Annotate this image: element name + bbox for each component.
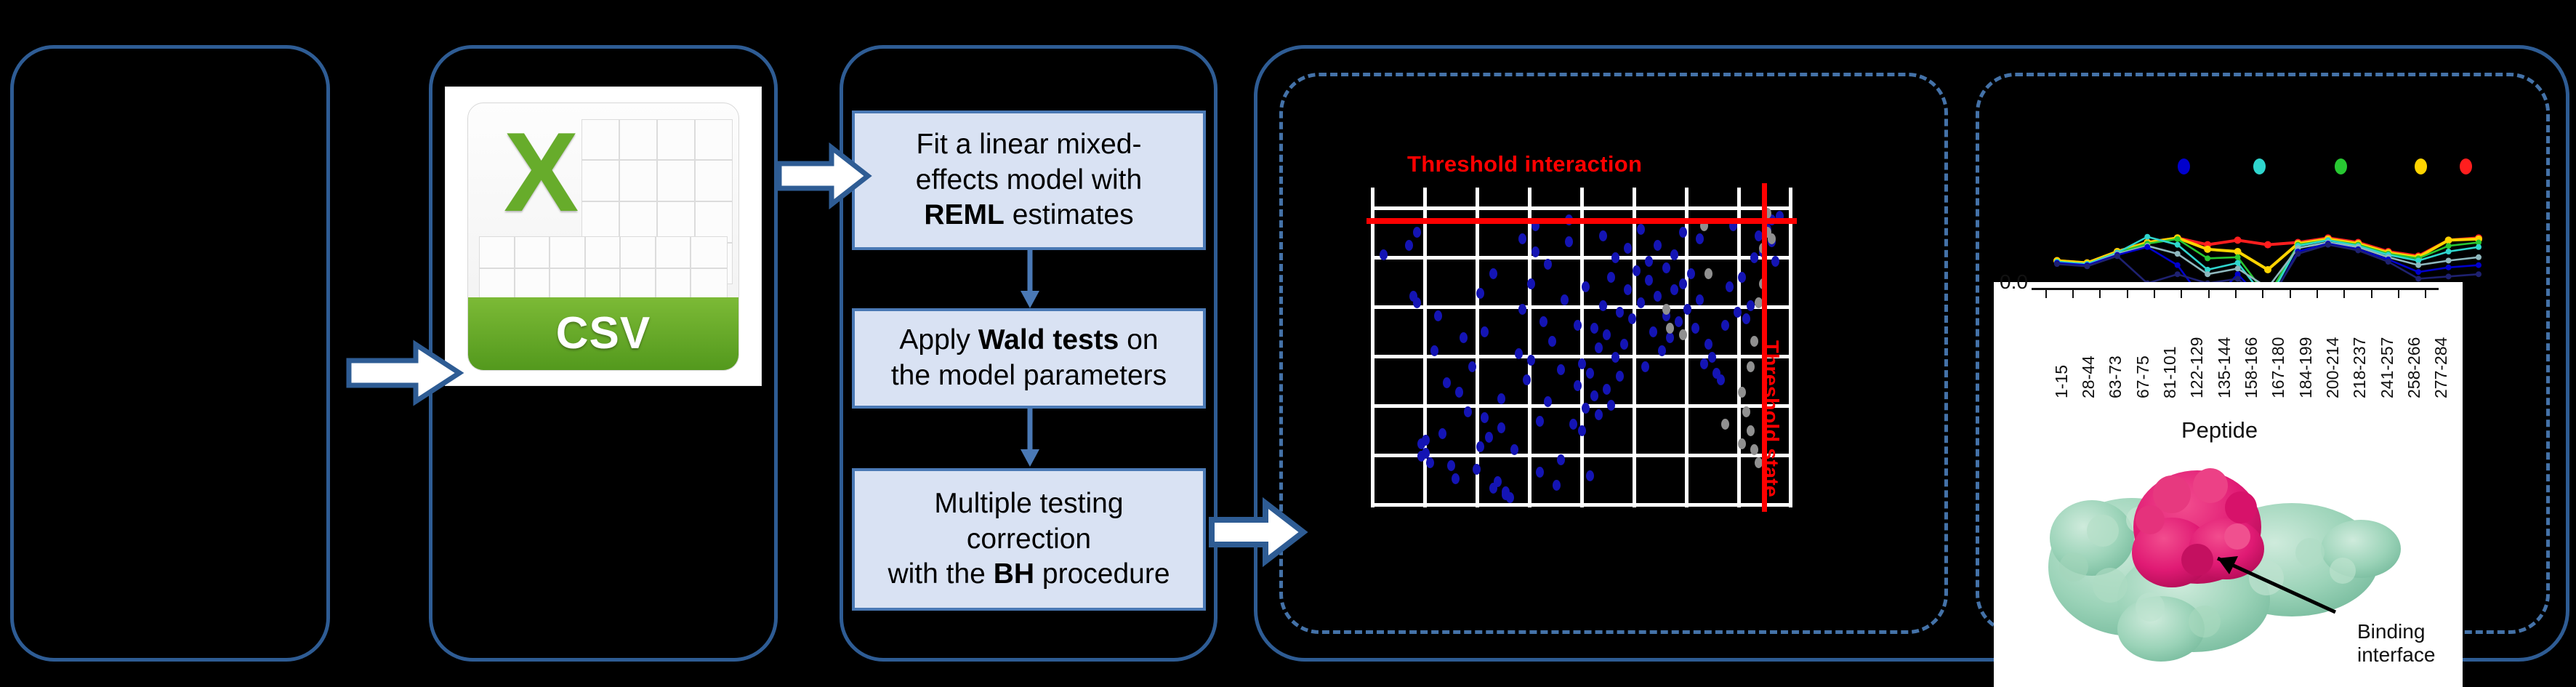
volcano-data-point (1726, 281, 1734, 292)
line-marker (2446, 243, 2452, 249)
line-marker (2446, 265, 2452, 270)
bh-line-3: with the BH procedure (887, 557, 1170, 592)
volcano-data-point (1738, 387, 1746, 398)
volcano-data-point (1481, 326, 1489, 337)
volcano-data-point (1476, 288, 1484, 299)
volcano-data-point (1531, 246, 1539, 257)
peptide-axis-title: Peptide (2181, 417, 2258, 443)
volcano-data-point (1569, 419, 1577, 430)
volcano-data-point (1506, 492, 1514, 503)
volcano-data-point (1717, 374, 1725, 385)
volcano-data-point (1750, 252, 1758, 263)
volcano-data-point (1527, 278, 1535, 289)
volcano-data-point (1536, 416, 1544, 427)
line-marker (2476, 271, 2482, 277)
volcano-data-point (1747, 425, 1755, 436)
arrow-input-to-csv (346, 340, 462, 406)
volcano-data-point (1721, 419, 1729, 430)
volcano-data-point (1616, 307, 1624, 318)
volcano-data-point (1750, 444, 1758, 455)
volcano-data-point (1658, 345, 1666, 356)
peptide-tick-label: 277-284 (2431, 337, 2451, 398)
volcano-data-point (1548, 336, 1556, 347)
peptide-tick-label: 63-73 (2106, 355, 2125, 398)
protein-structure-figure (2023, 451, 2401, 669)
volcano-data-point (1607, 272, 1615, 283)
volcano-data-point (1527, 355, 1535, 366)
volcano-data-point (1553, 480, 1561, 491)
line-marker (2476, 262, 2482, 268)
volcano-data-point (1586, 368, 1594, 379)
volcano-data-point (1704, 339, 1712, 350)
arrow-model-to-results (1209, 499, 1307, 566)
volcano-data-point (1595, 409, 1603, 420)
volcano-data-point (1670, 249, 1678, 260)
volcano-data-point (1620, 339, 1628, 350)
process-step-fit-model-text: Fit a linear mixed- effects model with R… (916, 127, 1142, 233)
peptide-tick-label: 258-266 (2404, 337, 2424, 398)
bh-line-1: Multiple testing (887, 486, 1170, 522)
volcano-data-point (1624, 284, 1632, 295)
line-marker (2175, 242, 2181, 248)
workflow-diagram: X (0, 0, 2576, 687)
volcano-data-point (1670, 284, 1678, 295)
volcano-data-point (1679, 227, 1687, 238)
binding-interface-line-1: Binding (2357, 620, 2435, 643)
volcano-data-point (1768, 233, 1776, 244)
volcano-data-point (1645, 256, 1653, 267)
legend-dot-series-2 (2253, 158, 2266, 174)
line-marker (2175, 271, 2181, 277)
volcano-data-point (1742, 406, 1750, 417)
connector-wald-to-bh (1015, 409, 1045, 470)
volcano-data-point (1742, 313, 1750, 324)
volcano-data-point (1599, 300, 1607, 311)
line-marker (2445, 236, 2452, 244)
volcano-data-point (1734, 307, 1742, 318)
line-marker (2144, 234, 2150, 240)
volcano-data-point (1738, 272, 1746, 283)
line-marker (2415, 269, 2421, 275)
process-step-bh-correction-text: Multiple testing correction with the BH … (887, 486, 1170, 592)
line-marker (2415, 276, 2421, 281)
legend-dot-series-5 (2460, 158, 2472, 174)
volcano-data-point (1637, 224, 1645, 235)
volcano-data-point (1721, 320, 1729, 331)
volcano-data-point (1481, 412, 1489, 423)
volcano-data-point (1438, 428, 1446, 439)
volcano-data-point (1649, 326, 1657, 337)
volcano-data-point (1700, 358, 1708, 369)
legend-dot-series-3 (2335, 158, 2347, 174)
wald-line-1: Apply Wald tests on (891, 323, 1167, 358)
volcano-data-point (1539, 316, 1547, 327)
line-marker (2476, 254, 2482, 260)
volcano-data-point (1696, 294, 1704, 305)
volcano-data-point (1747, 300, 1755, 311)
threshold-interaction-line (1367, 218, 1797, 224)
line-marker (2446, 257, 2452, 263)
line-marker (2235, 260, 2241, 266)
peptide-tick-label: 28-44 (2079, 355, 2098, 398)
volcano-data-point (1616, 371, 1624, 382)
volcano-data-point (1518, 304, 1526, 315)
volcano-data-point (1518, 233, 1526, 244)
volcano-data-point (1611, 352, 1619, 363)
input-panel (10, 45, 330, 662)
line-marker (2446, 249, 2452, 254)
volcano-data-point (1574, 320, 1582, 331)
volcano-data-point (1738, 438, 1746, 449)
line-marker (2204, 246, 2211, 253)
volcano-data-point (1473, 464, 1481, 475)
volcano-data-point (1557, 454, 1565, 465)
volcano-data-point (1434, 310, 1442, 321)
volcano-data-point (1662, 262, 1670, 273)
volcano-plot: Threshold interaction (1301, 153, 1926, 531)
volcano-data-point (1380, 249, 1388, 260)
volcano-data-point (1468, 361, 1476, 372)
volcano-data-point (1704, 268, 1712, 279)
process-step-wald-tests-text: Apply Wald tests on the model parameters (891, 323, 1167, 394)
peptide-tick-label: 81-101 (2160, 346, 2180, 398)
peptide-tick-label: 158-166 (2242, 337, 2261, 398)
volcano-data-point (1582, 281, 1590, 292)
volcano-data-point (1497, 422, 1505, 433)
fit-model-line-1: Fit a linear mixed- (916, 127, 1142, 163)
volcano-data-point (1747, 361, 1755, 372)
volcano-data-point (1624, 243, 1632, 254)
volcano-data-point (1599, 230, 1607, 241)
volcano-data-point (1595, 342, 1603, 353)
volcano-data-point (1405, 240, 1413, 251)
volcano-data-point (1603, 384, 1611, 395)
line-marker (2205, 255, 2210, 261)
volcano-threshold-state-label: Threshold state (1758, 340, 1782, 497)
volcano-data-point (1565, 236, 1573, 247)
volcano-data-point (1654, 291, 1662, 302)
volcano-point-cloud (1371, 188, 1792, 507)
connector-fit-to-wald (1015, 250, 1045, 311)
line-marker (2175, 236, 2181, 242)
volcano-data-point (1628, 313, 1636, 324)
volcano-data-point (1544, 396, 1552, 407)
volcano-data-point (1443, 377, 1451, 388)
volcano-data-point (1666, 323, 1674, 334)
line-marker (2234, 236, 2242, 244)
volcano-data-point (1687, 268, 1695, 279)
process-step-fit-model: Fit a linear mixed- effects model with R… (852, 111, 1206, 250)
volcano-data-point (1637, 297, 1645, 308)
line-marker (2325, 242, 2331, 248)
volcano-data-point (1476, 441, 1484, 452)
csv-grid-bottom (479, 236, 728, 300)
line-marker (2264, 266, 2271, 273)
line-marker (2235, 276, 2241, 281)
volcano-data-point (1696, 233, 1704, 244)
volcano-data-point (1489, 268, 1497, 279)
line-marker (2175, 251, 2181, 257)
line-marker (2295, 251, 2301, 257)
volcano-data-point (1590, 323, 1598, 334)
volcano-data-point (1494, 476, 1502, 487)
volcano-data-point (1536, 467, 1544, 478)
volcano-data-point (1590, 390, 1598, 401)
line-marker (2175, 262, 2181, 268)
volcano-data-point (1464, 406, 1472, 417)
volcano-data-point (1633, 265, 1641, 276)
volcano-data-point (1422, 435, 1430, 446)
volcano-data-point (1497, 393, 1505, 404)
legend-dot-series-4 (2415, 158, 2427, 174)
results-figure-card: 0.0 1-1528-4463-7367-7581-101122-129135-… (1994, 282, 2463, 687)
volcano-data-point (1662, 304, 1670, 315)
peptide-tick-label: 200-214 (2323, 337, 2343, 398)
fit-model-line-3: REML estimates (916, 198, 1142, 233)
volcano-data-point (1679, 278, 1687, 289)
volcano-data-point (1544, 259, 1552, 270)
peptide-tick-label: 241-257 (2378, 337, 2397, 398)
peptide-tick-label: 67-75 (2133, 355, 2153, 398)
line-marker (2264, 241, 2271, 249)
volcano-data-point (1708, 352, 1716, 363)
volcano-data-point (1413, 297, 1421, 308)
line-marker (2235, 265, 2241, 271)
bh-line-2: correction (887, 522, 1170, 558)
volcano-data-point (1679, 329, 1687, 340)
fit-model-line-2: effects model with (916, 163, 1142, 198)
volcano-data-point (1455, 387, 1463, 398)
volcano-data-point (1426, 457, 1434, 468)
line-marker (2355, 247, 2361, 253)
volcano-data-point (1485, 432, 1493, 443)
volcano-data-point (1515, 348, 1523, 359)
volcano-data-point (1641, 361, 1649, 372)
peptide-tick-label: 218-237 (2350, 337, 2370, 398)
volcano-data-point (1645, 275, 1653, 286)
volcano-data-point (1750, 336, 1758, 347)
volcano-plot-area (1371, 188, 1792, 507)
line-marker (2386, 259, 2391, 265)
volcano-data-point (1611, 252, 1619, 263)
volcano-threshold-interaction-label: Threshold interaction (1407, 151, 1642, 177)
line-marker (2144, 244, 2150, 250)
csv-format-label: CSV (468, 297, 738, 369)
volcano-data-point (1675, 316, 1683, 327)
volcano-data-point (1586, 470, 1594, 481)
arrow-csv-to-model (776, 144, 871, 208)
volcano-data-point (1561, 294, 1569, 305)
binding-interface-label: Binding interface (2357, 620, 2435, 667)
volcano-data-point (1452, 473, 1460, 484)
volcano-data-point (1607, 400, 1615, 411)
line-marker (2415, 262, 2421, 268)
volcano-data-point (1447, 460, 1455, 471)
line-marker (2084, 263, 2090, 269)
line-marker (2205, 271, 2210, 277)
process-step-bh-correction: Multiple testing correction with the BH … (852, 468, 1206, 611)
volcano-data-point (1771, 256, 1779, 267)
volcano-data-point (1510, 444, 1518, 455)
volcano-data-point (1683, 304, 1691, 315)
volcano-data-point (1523, 374, 1531, 385)
volcano-data-point (1603, 329, 1611, 340)
line-marker (2235, 254, 2241, 260)
volcano-data-point (1460, 332, 1468, 343)
legend-dot-series-1 (2178, 158, 2190, 174)
peptide-tick-labels: 1-1528-4463-7367-7581-101122-129135-1441… (1994, 282, 2463, 427)
peptide-tick-label: 122-129 (2187, 337, 2207, 398)
line-marker (2054, 261, 2060, 267)
process-step-wald-tests: Apply Wald tests on the model parameters (852, 308, 1206, 409)
volcano-data-point (1574, 380, 1582, 391)
peptide-tick-label: 135-144 (2215, 337, 2234, 398)
line-marker (2114, 253, 2120, 259)
volcano-data-point (1430, 345, 1438, 356)
volcano-data-point (1413, 227, 1421, 238)
line-marker (2234, 248, 2242, 255)
volcano-data-point (1691, 323, 1699, 334)
volcano-data-point (1582, 403, 1590, 414)
peptide-tick-label: 184-199 (2296, 337, 2316, 398)
line-marker (2446, 273, 2452, 279)
volcano-data-point (1654, 240, 1662, 251)
volcano-data-point (1578, 425, 1586, 436)
binding-interface-line-2: interface (2357, 643, 2435, 667)
wald-line-2: the model parameters (891, 358, 1167, 394)
peptide-tick-label: 1-15 (2052, 365, 2072, 398)
volcano-data-point (1557, 364, 1565, 375)
volcano-data-point (1578, 358, 1586, 369)
csv-icon-body: X (467, 103, 738, 371)
line-marker (2476, 244, 2482, 250)
volcano-data-point (1666, 332, 1674, 343)
peptide-tick-label: 167-180 (2269, 337, 2288, 398)
csv-file-icon: X (446, 87, 761, 385)
